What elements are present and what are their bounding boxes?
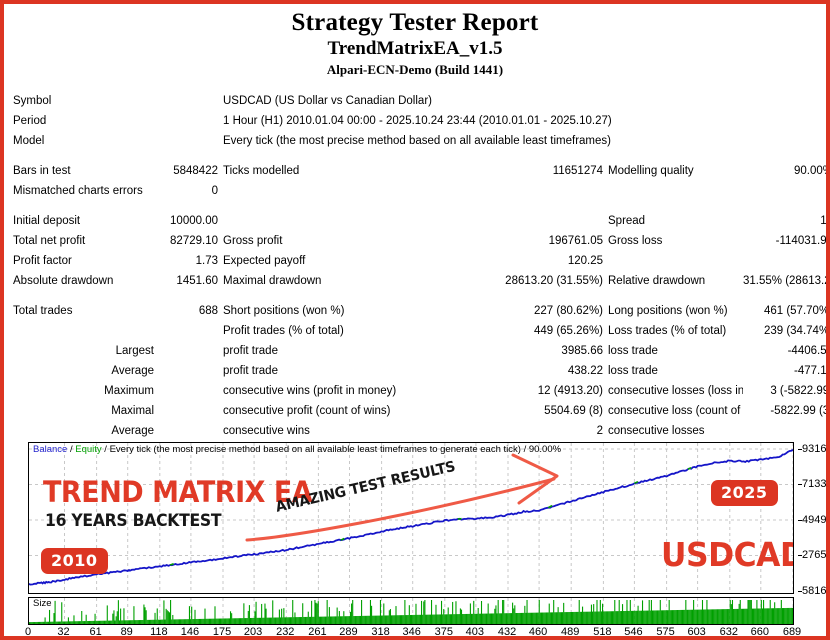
table-row: Symbol USDCAD (US Dollar vs Canadian Dol… <box>10 91 820 111</box>
overlay-symbol: USDCAD <box>661 535 794 574</box>
avg-consecutive-wins-label: consecutive wins <box>218 421 463 441</box>
x-axis-tick-label: 403 <box>466 626 484 638</box>
table-row: Mismatched charts errors 0 <box>10 181 830 201</box>
maximal-drawdown-value: 28613.20 (31.55%) <box>463 271 603 291</box>
x-axis-tick-label: 375 <box>435 626 453 638</box>
relative-drawdown-value: 31.55% (28613.20) <box>743 271 830 291</box>
x-axis-tick-label: 89 <box>121 626 133 638</box>
average-profit-trade-label: profit trade <box>218 361 463 381</box>
absolute-drawdown-label: Absolute drawdown <box>10 271 158 291</box>
long-positions-label: Long positions (won %) <box>603 301 743 321</box>
relative-drawdown-label: Relative drawdown <box>603 271 743 291</box>
x-axis-tick-label: 261 <box>308 626 326 638</box>
y-axis-tick <box>798 484 802 485</box>
profit-factor-label: Profit factor <box>10 251 158 271</box>
short-positions-value: 227 (80.62%) <box>463 301 603 321</box>
model-value: Every tick (the most precise method base… <box>158 131 820 151</box>
absolute-drawdown-value: 1451.60 <box>158 271 218 291</box>
max-consecutive-wins-label: consecutive wins (profit in money) <box>218 381 463 401</box>
avg-consecutive-wins-value: 2 <box>463 421 603 441</box>
average-profit-trade-value: 438.22 <box>463 361 603 381</box>
average-loss-trade-value: -477.12 <box>743 361 830 381</box>
loss-trades-label: Loss trades (% of total) <box>603 321 743 341</box>
average2-label: Average <box>10 421 158 441</box>
profit-factor-value: 1.73 <box>158 251 218 271</box>
ticks-modelled-label: Ticks modelled <box>218 161 463 181</box>
size-bars-svg <box>29 598 793 624</box>
x-axis-tick-label: 346 <box>402 626 420 638</box>
maximal-consecutive-profit-value: 5504.69 (8) <box>463 401 603 421</box>
avg-consecutive-losses-label: consecutive losses <box>603 421 743 441</box>
maximal-consecutive-loss-value: -5822.99 (3) <box>743 401 830 421</box>
x-axis-tick-label: 489 <box>561 626 579 638</box>
expected-payoff-label: Expected payoff <box>218 251 463 271</box>
instrument-info-table: Symbol USDCAD (US Dollar vs Canadian Dol… <box>10 91 820 151</box>
loss-trades-value: 239 (34.74%) <box>743 321 830 341</box>
y-axis-tick <box>798 520 802 521</box>
page-title: Strategy Tester Report <box>10 4 820 37</box>
expected-payoff-value: 120.25 <box>463 251 603 271</box>
largest-profit-trade-label: profit trade <box>218 341 463 361</box>
table-row: Total net profit 82729.10 Gross profit 1… <box>10 231 830 251</box>
y-axis-tick <box>798 555 802 556</box>
overlay-title: TREND MATRIX EA <box>43 475 312 509</box>
bars-in-test-value: 5848422 <box>158 161 218 181</box>
y-axis-tick <box>798 449 802 450</box>
modelling-quality-table: Bars in test 5848422 Ticks modelled 1165… <box>10 161 830 201</box>
x-axis-tick-label: 546 <box>624 626 642 638</box>
maximal-drawdown-label: Maximal drawdown <box>218 271 463 291</box>
spread-value: 10 <box>743 211 830 231</box>
overlay-subtitle: 16 YEARS BACKTEST <box>45 511 221 531</box>
table-row: Absolute drawdown 1451.60 Maximal drawdo… <box>10 271 830 291</box>
table-row: Total trades 688 Short positions (won %)… <box>10 301 830 321</box>
x-axis-tick-label: 689 <box>783 626 801 638</box>
x-axis-tick-label: 32 <box>57 626 69 638</box>
maximal-label: Maximal <box>10 401 158 421</box>
y-axis: 581627654494927133093167 <box>798 442 830 594</box>
table-row: Period 1 Hour (H1) 2010.01.04 00:00 - 20… <box>10 111 820 131</box>
lot-size-chart[interactable]: Size <box>28 597 794 625</box>
x-axis-tick-label: 232 <box>276 626 294 638</box>
initial-deposit-value: 10000.00 <box>158 211 218 231</box>
maximal-consecutive-profit-label: consecutive profit (count of wins) <box>218 401 463 421</box>
average-loss-trade-label: loss trade <box>603 361 743 381</box>
spread-label: Spread <box>603 211 743 231</box>
initial-deposit-label: Initial deposit <box>10 211 158 231</box>
report-header: Strategy Tester Report TrendMatrixEA_v1.… <box>10 4 820 79</box>
profit-trades-label: Profit trades (% of total) <box>218 321 463 341</box>
symbol-label: Symbol <box>10 91 158 111</box>
x-axis-tick-label: 203 <box>244 626 262 638</box>
x-axis-tick-label: 632 <box>720 626 738 638</box>
table-row: Average consecutive wins 2 consecutive l… <box>10 421 830 441</box>
modelling-quality-value: 90.00% <box>743 161 830 181</box>
table-row: Bars in test 5848422 Ticks modelled 1165… <box>10 161 830 181</box>
x-axis-tick-label: 146 <box>181 626 199 638</box>
profit-summary-table: Initial deposit 10000.00 Spread 10 Total… <box>10 211 830 291</box>
total-trades-value: 688 <box>158 301 218 321</box>
table-row: Initial deposit 10000.00 Spread 10 <box>10 211 830 231</box>
table-row: Model Every tick (the most precise metho… <box>10 131 820 151</box>
modelling-quality-label: Modelling quality <box>603 161 743 181</box>
table-row: Average profit trade 438.22 loss trade -… <box>10 361 830 381</box>
y-axis-tick-label: 5816 <box>802 585 826 597</box>
strategy-tester-report: Strategy Tester Report TrendMatrixEA_v1.… <box>0 0 830 640</box>
short-positions-label: Short positions (won %) <box>218 301 463 321</box>
y-axis-tick-label: 93167 <box>802 443 830 455</box>
mismatched-charts-value: 0 <box>158 181 218 201</box>
table-row: Largest profit trade 3985.66 loss trade … <box>10 341 830 361</box>
x-axis-tick-label: 432 <box>498 626 516 638</box>
gross-loss-label: Gross loss <box>603 231 743 251</box>
x-axis-tick-label: 0 <box>25 626 31 638</box>
x-axis-tick-label: 118 <box>150 626 168 638</box>
x-axis: 0326189118146175203232261289318346375403… <box>28 626 794 640</box>
largest-label: Largest <box>10 341 158 361</box>
x-axis-tick-label: 518 <box>593 626 611 638</box>
table-row: Profit trades (% of total) 449 (65.26%) … <box>10 321 830 341</box>
y-axis-tick-label: 49492 <box>802 514 830 526</box>
mismatched-charts-label: Mismatched charts errors <box>10 181 158 201</box>
trade-statistics-table: Total trades 688 Short positions (won %)… <box>10 301 830 441</box>
table-row: Maximal consecutive profit (count of win… <box>10 401 830 421</box>
gross-profit-label: Gross profit <box>218 231 463 251</box>
x-axis-tick-label: 175 <box>213 626 231 638</box>
max-consecutive-wins-value: 12 (4913.20) <box>463 381 603 401</box>
largest-profit-trade-value: 3985.66 <box>463 341 603 361</box>
period-label: Period <box>10 111 158 131</box>
bars-in-test-label: Bars in test <box>10 161 158 181</box>
maximum-label: Maximum <box>10 381 158 401</box>
largest-loss-trade-label: loss trade <box>603 341 743 361</box>
maximal-consecutive-loss-label: consecutive loss (count of losses) <box>603 401 743 421</box>
y-axis-tick <box>798 591 802 592</box>
max-consecutive-losses-label: consecutive losses (loss in money) <box>603 381 743 401</box>
equity-graph-area: Balance / Equity / Every tick (the most … <box>10 442 820 628</box>
badge-end-year: 2025 <box>711 480 778 506</box>
ea-name: TrendMatrixEA_v1.5 <box>10 37 820 61</box>
gross-profit-value: 196761.05 <box>463 231 603 251</box>
total-net-profit-label: Total net profit <box>10 231 158 251</box>
largest-loss-trade-value: -4406.58 <box>743 341 830 361</box>
badge-start-year: 2010 <box>41 548 108 574</box>
x-axis-tick-label: 318 <box>371 626 389 638</box>
profit-trades-value: 449 (65.26%) <box>463 321 603 341</box>
x-axis-tick-label: 603 <box>687 626 705 638</box>
table-row: Maximum consecutive wins (profit in mone… <box>10 381 830 401</box>
x-axis-tick-label: 575 <box>656 626 674 638</box>
long-positions-value: 461 (57.70%) <box>743 301 830 321</box>
size-panel-label: Size <box>33 598 51 609</box>
y-axis-tick-label: 71330 <box>802 478 830 490</box>
period-value: 1 Hour (H1) 2010.01.04 00:00 - 2025.10.2… <box>158 111 820 131</box>
avg-consecutive-losses-value: 1 <box>743 421 830 441</box>
y-axis-tick-label: 27654 <box>802 549 830 561</box>
x-axis-tick-label: 289 <box>339 626 357 638</box>
x-axis-tick-label: 61 <box>90 626 102 638</box>
gross-loss-value: -114031.96 <box>743 231 830 251</box>
x-axis-tick-label: 460 <box>529 626 547 638</box>
total-net-profit-value: 82729.10 <box>158 231 218 251</box>
symbol-value: USDCAD (US Dollar vs Canadian Dollar) <box>158 91 820 111</box>
average-label: Average <box>10 361 158 381</box>
ticks-modelled-value: 11651274 <box>463 161 603 181</box>
broker-build: Alpari-ECN-Demo (Build 1441) <box>10 61 820 79</box>
table-row: Profit factor 1.73 Expected payoff 120.2… <box>10 251 830 271</box>
model-label: Model <box>10 131 158 151</box>
x-axis-tick-label: 660 <box>751 626 769 638</box>
balance-equity-chart[interactable]: Balance / Equity / Every tick (the most … <box>28 442 794 594</box>
max-consecutive-losses-value: 3 (-5822.99) <box>743 381 830 401</box>
total-trades-label: Total trades <box>10 301 158 321</box>
